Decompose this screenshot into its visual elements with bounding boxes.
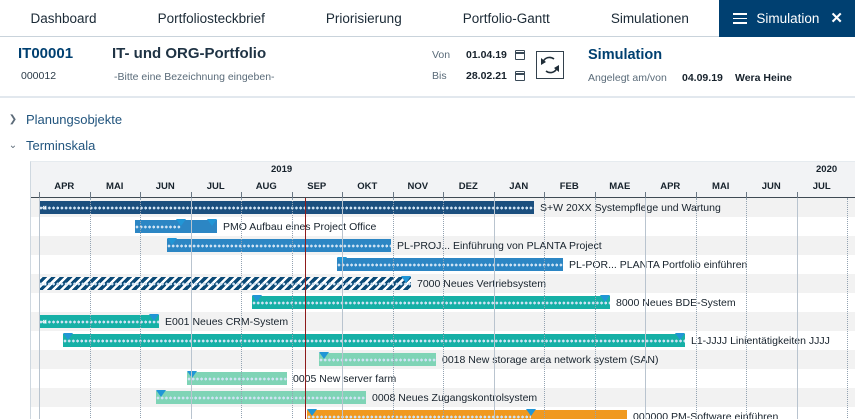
gantt-gridline <box>393 198 394 419</box>
scale-month-label: APR <box>645 181 696 192</box>
scale-month-label: NOV <box>393 181 444 192</box>
tab-dashboard[interactable]: Dashboard <box>0 0 127 37</box>
calendar-icon[interactable] <box>515 71 525 81</box>
gantt-bar-label: 0005 New server farm <box>293 373 396 385</box>
gantt-gridline <box>292 198 293 419</box>
gantt-mid-marker <box>176 219 186 226</box>
gantt-bar[interactable] <box>156 391 366 404</box>
gantt-gridline <box>645 198 646 419</box>
tab-bar: Dashboard Portfoliosteckbrief Priorisier… <box>0 0 855 37</box>
simulation-title: Simulation <box>588 47 662 63</box>
gantt-bar[interactable] <box>187 372 287 385</box>
gantt-start-marker <box>63 333 73 340</box>
scale-year-label: 2019 <box>271 164 292 175</box>
gantt-gridline <box>140 198 141 419</box>
tab-portfoliosteckbrief[interactable]: Portfoliosteckbrief <box>127 0 295 37</box>
portfolio-subtitle: -Bitte eine Bezeichnung eingeben- <box>114 71 275 83</box>
tab-label: Simulation <box>756 11 819 26</box>
scale-month-label: MAE <box>595 181 646 192</box>
scale-month-label: JUL <box>191 181 242 192</box>
gantt-bar-label: 0018 New storage area network system (SA… <box>442 354 659 366</box>
gantt-gridline <box>90 198 91 419</box>
tab-priorisierung[interactable]: Priorisierung <box>295 0 432 37</box>
continues-left-icon: « <box>42 279 46 288</box>
gantt-bar-label: E001 Neues CRM-System <box>165 316 288 328</box>
scale-month-label: JUL <box>797 181 848 192</box>
section-terminskala[interactable]: ⌄ Terminskala <box>0 134 95 156</box>
gantt-start-marker <box>167 238 177 245</box>
chevron-down-icon[interactable]: ⌄ <box>0 140 26 151</box>
gantt-bar-label: 7000 Neues Vertriebsystem <box>417 278 546 290</box>
gantt-end-marker <box>600 295 610 302</box>
gantt-gridline <box>544 198 545 419</box>
calendar-icon[interactable] <box>515 50 525 60</box>
section-label: Planungsobjekte <box>26 112 122 127</box>
gantt-bar-label: PL-PROJ... Einführung von PLANTA Project <box>397 240 602 252</box>
von-label: Von <box>432 49 450 61</box>
gantt-bar-progress <box>39 281 411 287</box>
gantt-bar[interactable]: « <box>39 201 534 214</box>
gantt-start-marker <box>187 371 197 378</box>
gantt-gridline <box>39 198 40 419</box>
gantt-gridline <box>696 198 697 419</box>
scale-month-label: FEB <box>544 181 595 192</box>
tab-label: Simulationen <box>611 11 689 26</box>
record-header: IT00001 000012 IT- und ORG-Portfolio -Bi… <box>0 37 855 98</box>
tab-simulationen[interactable]: Simulationen <box>580 0 719 37</box>
gantt-end-marker <box>149 314 159 321</box>
gantt-bar-progress <box>319 357 436 363</box>
gantt-end-marker <box>207 219 217 226</box>
gantt-mid-marker <box>526 409 536 416</box>
gantt-start-marker <box>252 295 262 302</box>
today-line <box>305 198 306 419</box>
von-value[interactable]: 01.04.19 <box>466 49 507 61</box>
gantt-bar-label: S+W 20XX Systempflege und Wartung <box>540 202 721 214</box>
gantt-bar[interactable] <box>337 258 563 271</box>
scale-year-label: 2020 <box>816 164 837 175</box>
bis-label: Bis <box>432 70 447 82</box>
gantt-bar-label: PMO Aufbau eines Project Office <box>223 221 376 233</box>
tab-portfolio-gantt[interactable]: Portfolio-Gantt <box>432 0 580 37</box>
close-icon[interactable]: ✕ <box>830 11 843 26</box>
chevron-right-icon[interactable]: ❯ <box>0 114 26 125</box>
gantt-end-marker <box>675 333 685 340</box>
gantt-bar-progress <box>39 319 159 325</box>
gantt-chart[interactable]: 20192020APRMAIJUNJULAUGSEPOKTNOVDEZJANFE… <box>30 161 855 419</box>
tab-label: Portfoliosteckbrief <box>158 11 265 26</box>
created-date: 04.09.19 <box>682 72 723 84</box>
created-label: Angelegt am/von <box>588 72 667 84</box>
gantt-bar-progress <box>63 338 685 344</box>
gantt-bar[interactable] <box>319 353 436 366</box>
gantt-gridline <box>746 198 747 419</box>
gantt-bar-progress <box>167 243 391 249</box>
gantt-bar-progress <box>307 414 531 419</box>
gantt-bar[interactable]: « <box>39 277 411 290</box>
gantt-bar-progress <box>187 376 287 382</box>
gantt-end-marker <box>401 276 411 283</box>
continues-left-icon: « <box>42 203 46 212</box>
gantt-bar-label: L1-JJJJ Linientätigkeiten JJJJ <box>691 335 830 347</box>
timeline-scale: 20192020APRMAIJUNJULAUGSEPOKTNOVDEZJANFE… <box>31 162 855 198</box>
scale-month-label: APR <box>39 181 90 192</box>
bis-value[interactable]: 28.02.21 <box>466 70 507 82</box>
gantt-bar-label: PL-POR... PLANTA Portfolio einführen <box>569 259 747 271</box>
tab-label: Portfolio-Gantt <box>463 11 550 26</box>
continues-left-icon: « <box>42 317 46 326</box>
tab-simulation-active[interactable]: Simulation ✕ <box>719 0 855 37</box>
gantt-bar[interactable] <box>307 410 627 419</box>
gantt-bar[interactable] <box>63 334 685 347</box>
gantt-start-marker <box>156 390 166 397</box>
scale-month-label: MAI <box>696 181 747 192</box>
tab-label: Dashboard <box>31 11 97 26</box>
scale-month-label: DEZ <box>443 181 494 192</box>
gantt-gridline <box>342 198 343 419</box>
refresh-button[interactable] <box>536 51 564 79</box>
scale-month-label: MAI <box>90 181 141 192</box>
gantt-bar-label: 000000 PM-Software einführen <box>633 411 778 419</box>
gantt-gridline <box>494 198 495 419</box>
gantt-gridline <box>847 198 848 419</box>
section-planungsobjekte[interactable]: ❯ Planungsobjekte <box>0 108 122 130</box>
scale-month-label: SEP <box>292 181 343 192</box>
gantt-bar-label: 8000 Neues BDE-System <box>616 297 736 309</box>
gantt-gridline <box>797 198 798 419</box>
gantt-bar-progress <box>156 395 366 401</box>
gantt-start-marker <box>319 352 329 359</box>
scale-month-label: OKT <box>342 181 393 192</box>
scale-month-label: JUN <box>746 181 797 192</box>
gantt-bar-progress <box>135 224 181 230</box>
gantt-gridline <box>595 198 596 419</box>
tab-label: Priorisierung <box>326 11 402 26</box>
gantt-gridline <box>443 198 444 419</box>
scale-month-label: JUN <box>140 181 191 192</box>
gantt-bar-progress <box>337 262 563 268</box>
created-user: Wera Heine <box>735 72 792 84</box>
gantt-start-marker <box>307 409 317 416</box>
gantt-gridline <box>191 198 192 419</box>
scale-month-label: AUG <box>241 181 292 192</box>
gantt-bar[interactable] <box>167 239 391 252</box>
portfolio-id: IT00001 <box>18 45 73 62</box>
gantt-bar-label: 0008 Neues Zugangskontrolsystem <box>372 392 537 404</box>
section-label: Terminskala <box>26 138 95 153</box>
gantt-gridline <box>241 198 242 419</box>
portfolio-number: 000012 <box>21 70 56 82</box>
gantt-bar-progress <box>39 205 534 211</box>
page-title: IT- und ORG-Portfolio <box>112 45 266 62</box>
gantt-bar[interactable]: « <box>39 315 159 328</box>
refresh-icon <box>537 52 563 78</box>
scale-month-label: JAN <box>494 181 545 192</box>
hamburger-icon[interactable] <box>733 13 747 24</box>
